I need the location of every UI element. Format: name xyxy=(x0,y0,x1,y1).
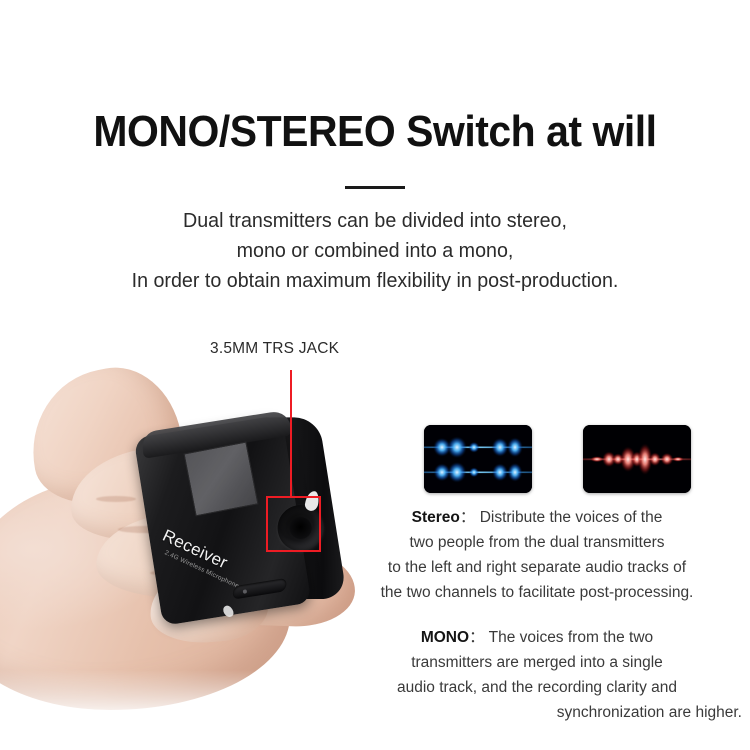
page-title: MONO/STEREO Switch at will xyxy=(26,106,724,158)
mono-term: MONO xyxy=(421,629,469,646)
jack-highlight-box xyxy=(266,496,321,552)
skin-crease xyxy=(96,496,136,502)
stereo-description-line-1: Stereo： Distribute the voices of the xyxy=(328,505,746,530)
mono-description-line-2: transmitters are merged into a single xyxy=(328,650,746,675)
stereo-term: Stereo xyxy=(412,509,460,526)
jack-callout-label: 3.5MM TRS JACK xyxy=(210,340,339,358)
device-lcd-screen xyxy=(183,441,258,516)
subtitle-line-3: In order to obtain maximum flexibility i… xyxy=(15,266,735,296)
product-infographic: MONO/STEREO Switch at will Dual transmit… xyxy=(0,0,750,750)
mono-description-line-1: MONO： The voices from the two xyxy=(328,625,746,650)
title-divider xyxy=(345,186,405,189)
stereo-description-line-2: two people from the dual transmitters xyxy=(328,530,746,555)
stereo-description: Stereo： Distribute the voices of the two… xyxy=(328,505,746,605)
callout-leader-line xyxy=(290,370,292,498)
subtitle-block: Dual transmitters can be divided into st… xyxy=(15,206,735,296)
stereo-waveform-thumbnail xyxy=(424,425,532,493)
stereo-description-line-4: the two channels to facilitate post-proc… xyxy=(328,580,746,605)
mono-waveform-thumbnail xyxy=(583,425,691,493)
mono-description-line-4: synchronization are higher. xyxy=(328,700,746,725)
mono-text-1: The voices from the two xyxy=(489,629,654,646)
stereo-description-line-3: to the left and right separate audio tra… xyxy=(328,555,746,580)
stereo-text-1: Distribute the voices of the xyxy=(480,509,663,526)
subtitle-line-1: Dual transmitters can be divided into st… xyxy=(15,206,735,236)
mono-separator: ： xyxy=(469,629,485,646)
mono-description-line-3: audio track, and the recording clarity a… xyxy=(328,675,746,700)
mono-description: MONO： The voices from the two transmitte… xyxy=(328,625,746,725)
stereo-separator: ： xyxy=(460,509,476,526)
subtitle-line-2: mono or combined into a mono, xyxy=(15,236,735,266)
